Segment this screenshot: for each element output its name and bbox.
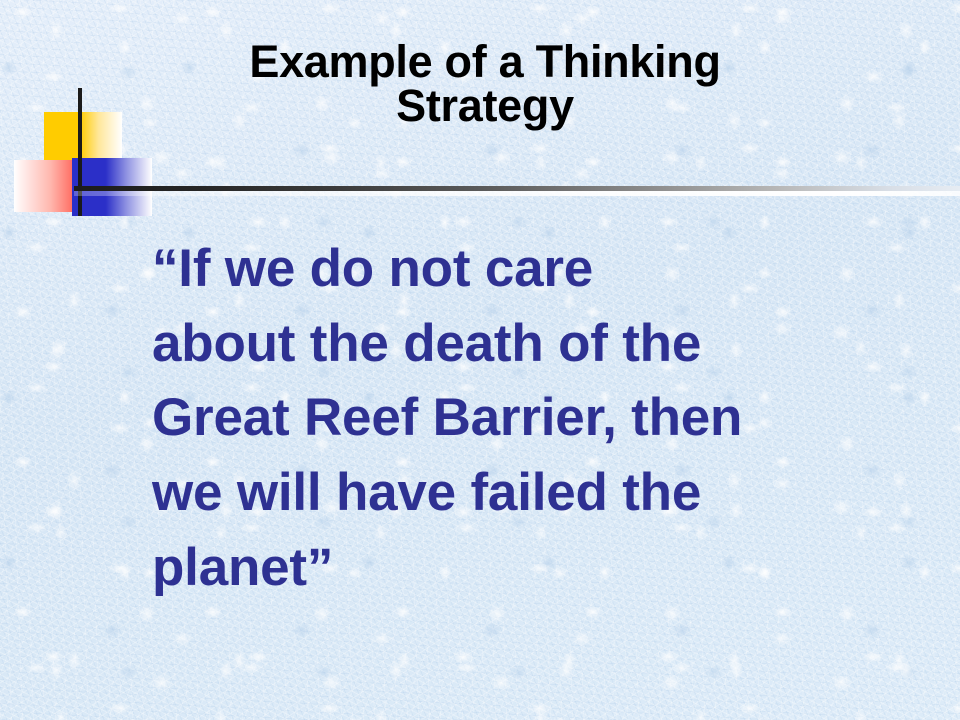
slide: Example of a Thinking Strategy “If we do… xyxy=(0,0,960,720)
quote-line-3: Great Reef Barrier, then xyxy=(152,381,912,456)
decorative-blocks-logo xyxy=(14,88,146,216)
title-line-1: Example of a Thinking xyxy=(60,40,910,84)
quote-line-5: planet” xyxy=(152,531,912,606)
body-quote: “If we do not care about the death of th… xyxy=(152,232,912,606)
quote-line-1: “If we do not care xyxy=(152,232,912,307)
vertical-rule-icon xyxy=(78,88,82,216)
title-line-2: Strategy xyxy=(60,84,910,128)
title-divider-highlight xyxy=(74,191,960,196)
quote-line-2: about the death of the xyxy=(152,307,912,382)
quote-line-4: we will have failed the xyxy=(152,456,912,531)
page-title: Example of a Thinking Strategy xyxy=(60,40,910,128)
